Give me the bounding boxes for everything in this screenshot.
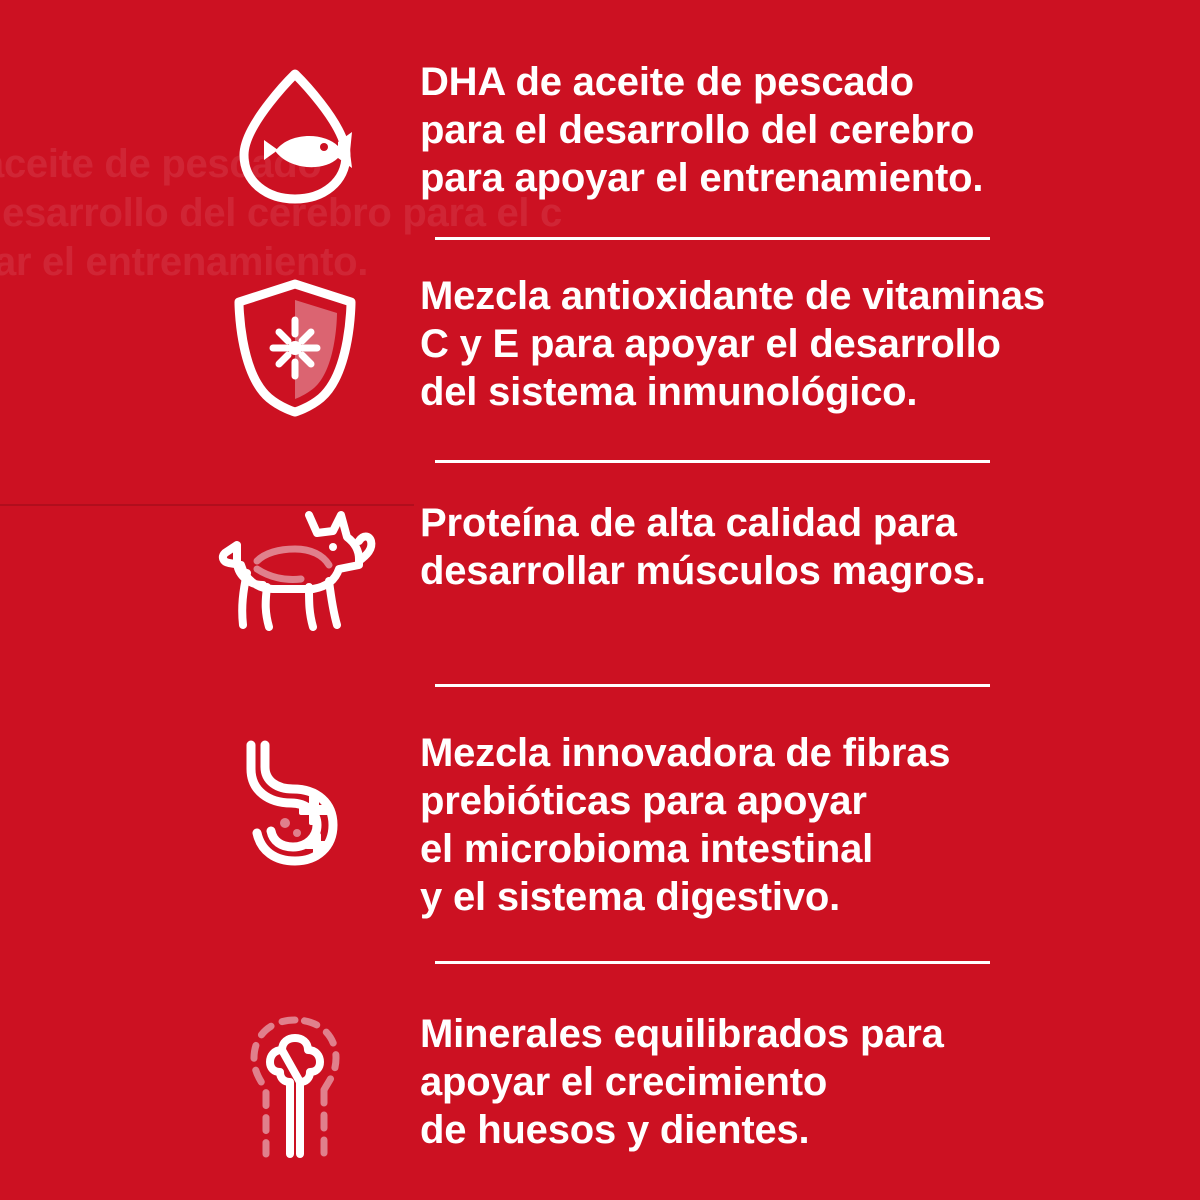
benefit-text: Mezcla innovadora de fibras prebióticas … — [420, 727, 1100, 921]
benefit-text: Proteína de alta calidad para desarrolla… — [420, 497, 1100, 595]
benefit-text-line: del sistema inmunológico. — [420, 368, 1100, 416]
stomach-digestive-icon — [170, 727, 420, 883]
benefit-text-line: prebióticas para apoyar — [420, 777, 1100, 825]
benefit-text-line: Minerales equilibrados para — [420, 1010, 1100, 1058]
benefit-text-line: Proteína de alta calidad para — [420, 499, 1100, 547]
benefit-text: Mezcla antioxidante de vitaminas C y E p… — [420, 270, 1100, 416]
benefit-text: DHA de aceite de pescado para el desarro… — [420, 56, 1100, 202]
benefit-text-line: para el desarrollo del cerebro — [420, 106, 1100, 154]
benefit-row: DHA de aceite de pescado para el desarro… — [170, 56, 1100, 207]
benefit-text: Minerales equilibrados para apoyar el cr… — [420, 1008, 1100, 1154]
benefit-row: Mezcla innovadora de fibras prebióticas … — [170, 727, 1100, 921]
benefit-text-line: DHA de aceite de pescado — [420, 58, 1100, 106]
benefit-text-line: y el sistema digestivo. — [420, 873, 1100, 921]
benefit-text-line: Mezcla innovadora de fibras — [420, 729, 1100, 777]
benefit-text-line: el microbioma intestinal — [420, 825, 1100, 873]
benefit-text-line: desarrollar músculos magros. — [420, 547, 1100, 595]
dog-muscle-icon — [170, 497, 420, 638]
benefit-text-line: apoyar el crecimiento — [420, 1058, 1100, 1106]
benefit-text-line: para apoyar el entrenamiento. — [420, 154, 1100, 202]
benefit-text-line: Mezcla antioxidante de vitaminas — [420, 272, 1100, 320]
shield-immune-icon — [170, 270, 420, 418]
benefit-text-line: de huesos y dientes. — [420, 1106, 1100, 1154]
benefit-row: Minerales equilibrados para apoyar el cr… — [170, 1008, 1100, 1164]
bone-mineral-icon — [170, 1008, 420, 1164]
benefit-row: Mezcla antioxidante de vitaminas C y E p… — [170, 270, 1100, 418]
fish-oil-drop-icon — [170, 56, 420, 207]
benefit-row: Proteína de alta calidad para desarrolla… — [170, 497, 1100, 638]
benefits-panel: DHA de aceite de pescado para el desarro… — [0, 0, 1200, 1200]
benefit-text-line: C y E para apoyar el desarrollo — [420, 320, 1100, 368]
